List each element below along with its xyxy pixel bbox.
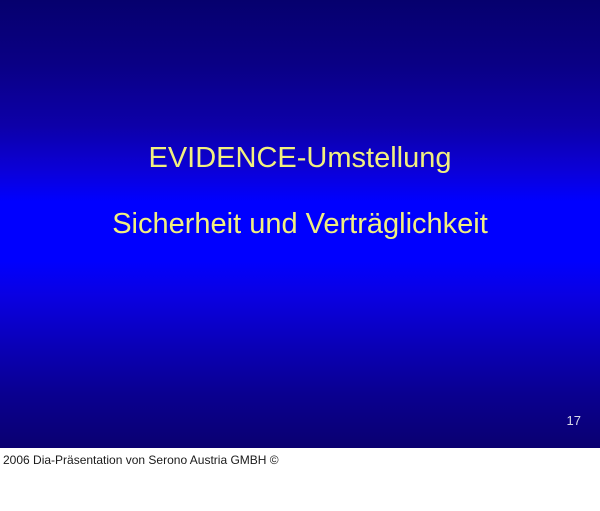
title-line-spacer	[0, 176, 600, 206]
slide-title-line-1: EVIDENCE-Umstellung	[0, 140, 600, 176]
slide-title-line-2: Sicherheit und Verträglichkeit	[0, 206, 600, 242]
footer-copyright-text: 2006 Dia-Präsentation von Serono Austria…	[3, 453, 279, 468]
slide-page-number: 17	[567, 413, 581, 429]
presentation-slide: EVIDENCE-Umstellung Sicherheit und Vertr…	[0, 0, 600, 448]
slide-title-block: EVIDENCE-Umstellung Sicherheit und Vertr…	[0, 140, 600, 242]
footer-bar: 2006 Dia-Präsentation von Serono Austria…	[0, 448, 600, 511]
